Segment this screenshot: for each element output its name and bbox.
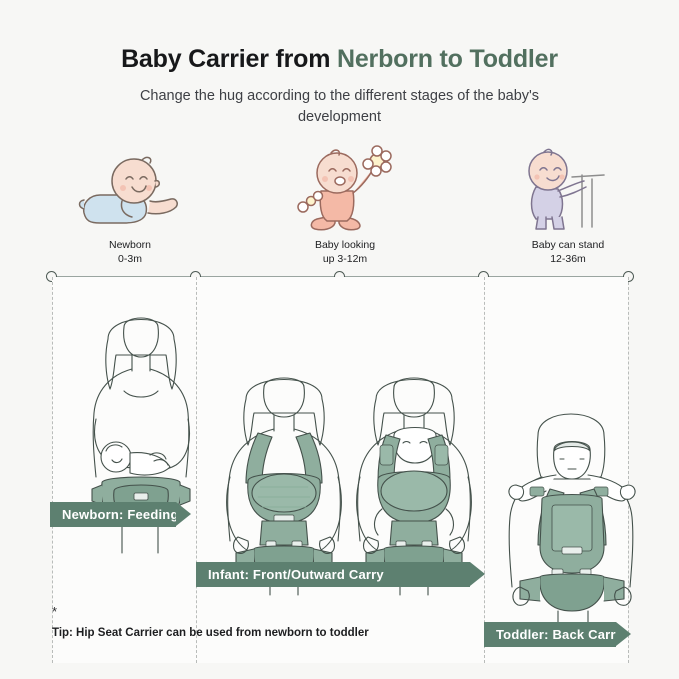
tip-block: * Tip: Hip Seat Carrier can be used from…	[52, 605, 369, 639]
baby-tummy-icon	[40, 143, 220, 231]
page-title: Baby Carrier from Nerborn to Toddler	[0, 46, 679, 74]
banner-newborn-feeding-label: Newborn: Feeding	[62, 507, 179, 522]
tip-asterisk: *	[52, 605, 369, 618]
stage-label-baby-looking: Baby looking up 3-12m	[255, 238, 435, 266]
banner-infant-front-outward-label: Infant: Front/Outward Carry	[208, 567, 384, 582]
banner-toddler-back-carry[interactable]: Toddler: Back Carry	[484, 622, 616, 647]
tip-text: Tip: Hip Seat Carrier can be used from n…	[52, 627, 369, 639]
page-subtitle: Change the hug according to the differen…	[100, 86, 580, 128]
stage-item-baby-looking: Baby looking up 3-12m	[255, 143, 435, 266]
stage-label-baby-standing: Baby can stand 12-36m	[478, 238, 658, 266]
panel-divider-2	[484, 277, 485, 663]
baby-standing-icon	[478, 143, 658, 231]
page-title-main: Baby Carrier from	[121, 45, 337, 73]
stage-label-newborn: Newborn 0-3m	[40, 238, 220, 266]
stage-item-baby-standing: Baby can stand 12-36m	[478, 143, 658, 266]
banner-toddler-back-carry-label: Toddler: Back Carry	[496, 627, 623, 642]
page-header: Baby Carrier from Nerborn to Toddler Cha…	[0, 0, 679, 128]
banner-infant-front-outward[interactable]: Infant: Front/Outward Carry	[196, 562, 470, 587]
page-title-accent: Nerborn to Toddler	[337, 45, 558, 73]
figure-mother-back-carry	[494, 397, 644, 647]
banner-newborn-feeding[interactable]: Newborn: Feeding	[50, 502, 176, 527]
stage-row: Newborn 0-3m	[0, 143, 679, 263]
stage-item-newborn: Newborn 0-3m	[40, 143, 220, 266]
baby-sitting-icon	[255, 143, 435, 231]
